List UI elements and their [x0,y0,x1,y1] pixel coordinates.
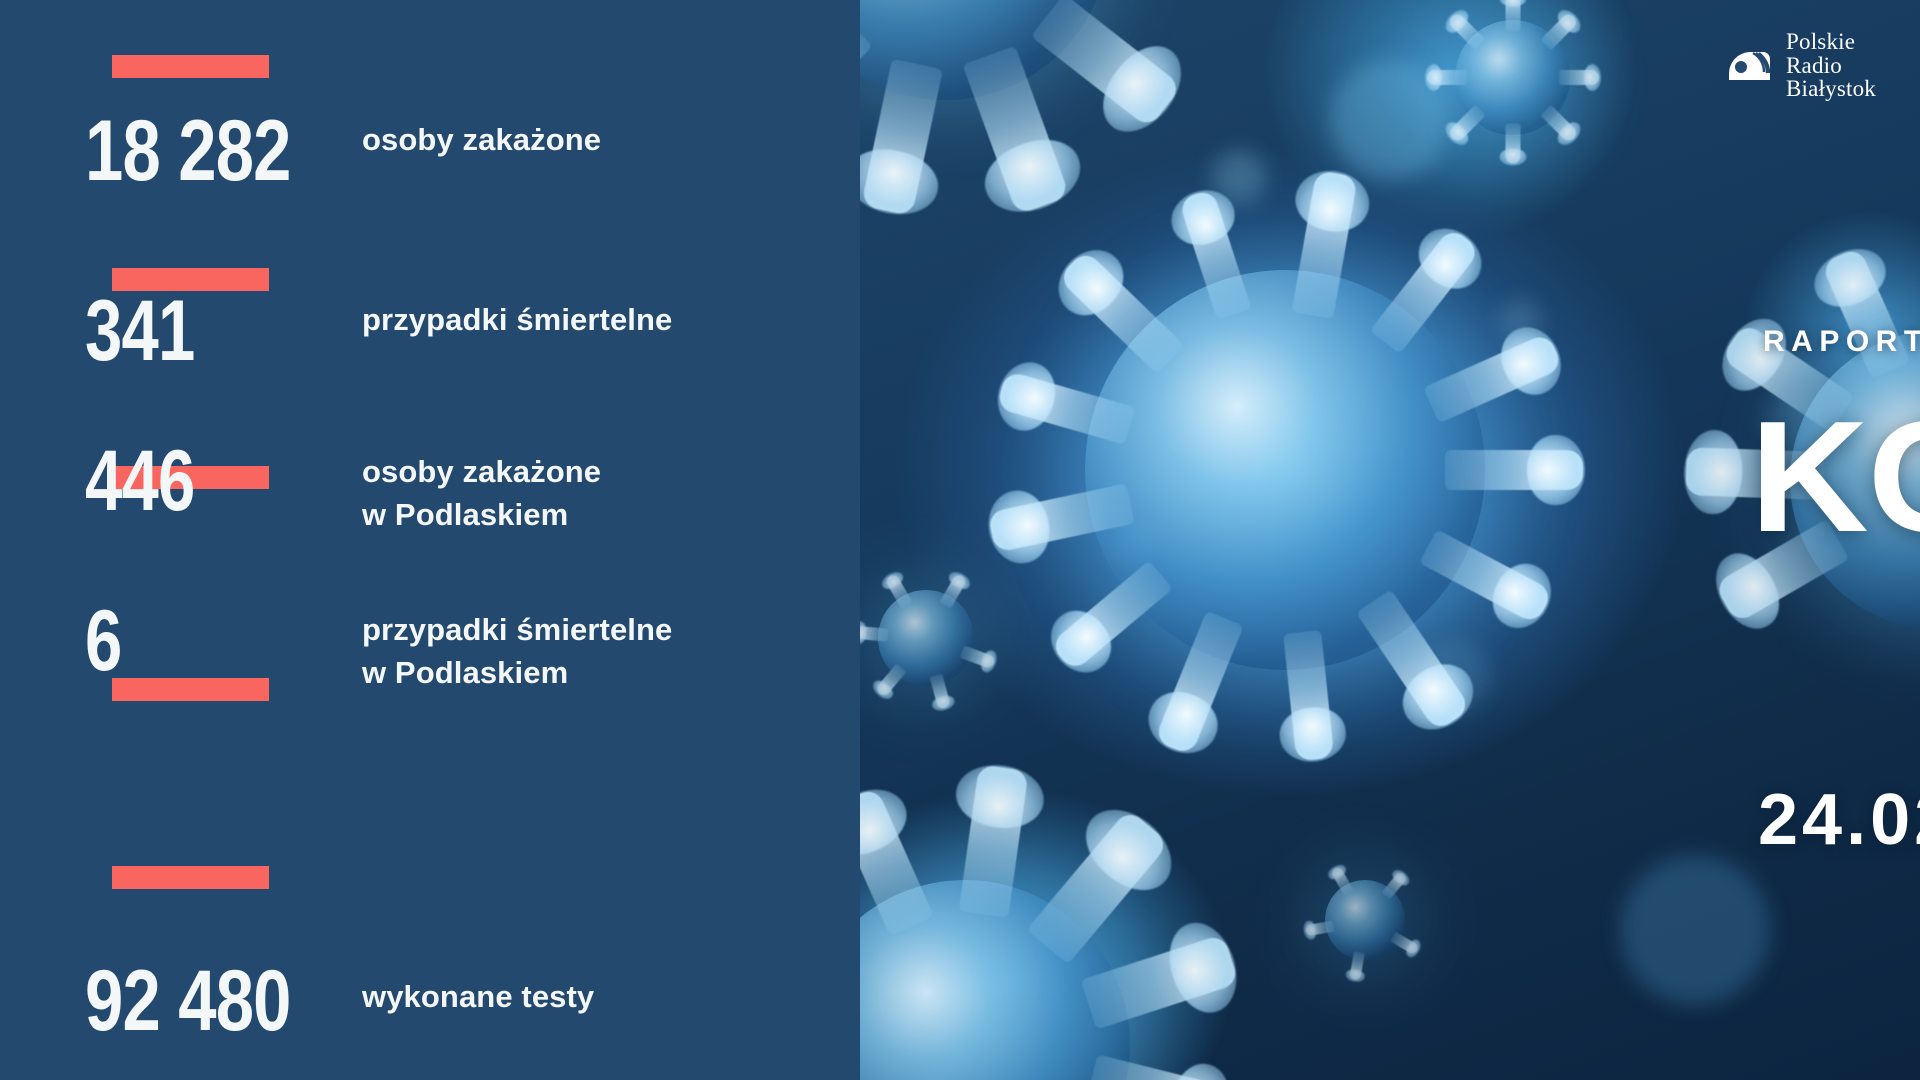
virus-spike [1087,1054,1232,1080]
virus-spike [1356,589,1471,732]
radio-wave-icon [1723,40,1775,92]
covid-report-poster: Polskie Radio Białystok RAPORT MINISTERS… [0,0,1920,1080]
virus-spike [860,11,873,151]
virus-spike [959,645,995,669]
virus-spike [1446,11,1485,50]
statistics-panel: 18 282 osoby zakażone 341 przypadki śmie… [0,0,860,1080]
report-kicker: RAPORT MINISTERSTWA ZDROWIA [1763,325,1920,359]
logo-line-1: Polskie [1786,29,1855,54]
logo-wordmark: Polskie Radio Białystok [1786,30,1876,101]
virus-spike [1540,105,1579,144]
stat-value: 18 282 [85,108,297,194]
bokeh-particle [1330,60,1450,180]
virus-photo-panel: Polskie Radio Białystok RAPORT MINISTERS… [860,0,1920,1080]
coronavirus-illustration [878,590,974,686]
stat-label: osoby zakażone w Podlaskiem [362,450,601,537]
virus-spike [1027,809,1170,965]
bokeh-particle [1110,520,1156,566]
stat-label: przypadki śmiertelne [362,298,672,341]
report-date: 24.02.2022 [1758,779,1920,861]
virus-spike [1390,931,1420,955]
virus-spike [1349,951,1365,980]
virus-spike [1049,560,1172,672]
virus-spike [939,572,967,608]
polskie-radio-bialystok-logo[interactable]: Polskie Radio Białystok [1723,30,1876,101]
virus-spike [1283,630,1334,761]
stat-label: przypadki śmiertelne w Podlaskiem [362,608,672,695]
virus-spike [1505,124,1520,164]
virus-spike [1423,332,1563,423]
virus-spike [1305,920,1334,936]
page-title: KORONAWIRUS [1750,402,1920,554]
virus-spike [1292,170,1358,319]
accent-rule [112,55,269,78]
virus-spike [875,663,907,697]
virus-spike [1540,11,1579,50]
accent-rule [112,866,269,889]
logo-line-2: Radio [1786,53,1842,78]
stat-value: 6 [85,598,292,684]
virus-core [1085,270,1485,670]
coronavirus-illustration [1455,20,1570,135]
bokeh-particle [1212,150,1266,204]
virus-spike [962,46,1069,216]
logo-line-3: Białystok [1786,76,1876,101]
virus-spike [930,673,951,709]
bokeh-particle [1500,300,1540,340]
virus-spike [860,787,934,936]
virus-spike [987,483,1134,553]
virus-spike [1427,70,1467,85]
virus-spike [1370,227,1481,354]
stat-value: 92 480 [85,958,297,1044]
virus-spike [860,625,889,641]
virus-core [1455,20,1570,135]
stat-value: 446 [85,438,292,524]
bokeh-particle [1620,855,1770,1005]
virus-spike [1821,247,1911,379]
virus-spike [1445,450,1583,490]
virus-spike [1446,105,1485,144]
virus-spike [1419,529,1553,625]
virus-core [1325,880,1405,960]
virus-spike [1330,865,1354,895]
virus-spike [1505,0,1520,32]
virus-spike [1057,249,1184,374]
virus-spike [1559,70,1599,85]
stat-label: wykonane testy [362,975,594,1018]
virus-spike [1031,0,1182,129]
coronavirus-illustration [1085,270,1485,670]
virus-spike [959,764,1029,918]
virus-spike [861,59,943,217]
virus-spike [1381,871,1407,900]
virus-spike [884,572,912,608]
coronavirus-illustration [860,0,1110,100]
coronavirus-illustration [1325,880,1405,960]
virus-spike [1154,611,1244,756]
virus-spike [1081,934,1240,1030]
coronavirus-illustration [860,880,1130,1080]
stat-label: osoby zakażone [362,118,601,161]
bokeh-particle [1420,640,1490,710]
virus-core [860,880,1130,1080]
stat-value: 341 [85,288,292,374]
virus-spike [996,370,1136,444]
virus-core [860,0,1110,100]
virus-core [878,590,974,686]
virus-spike [1178,189,1251,320]
